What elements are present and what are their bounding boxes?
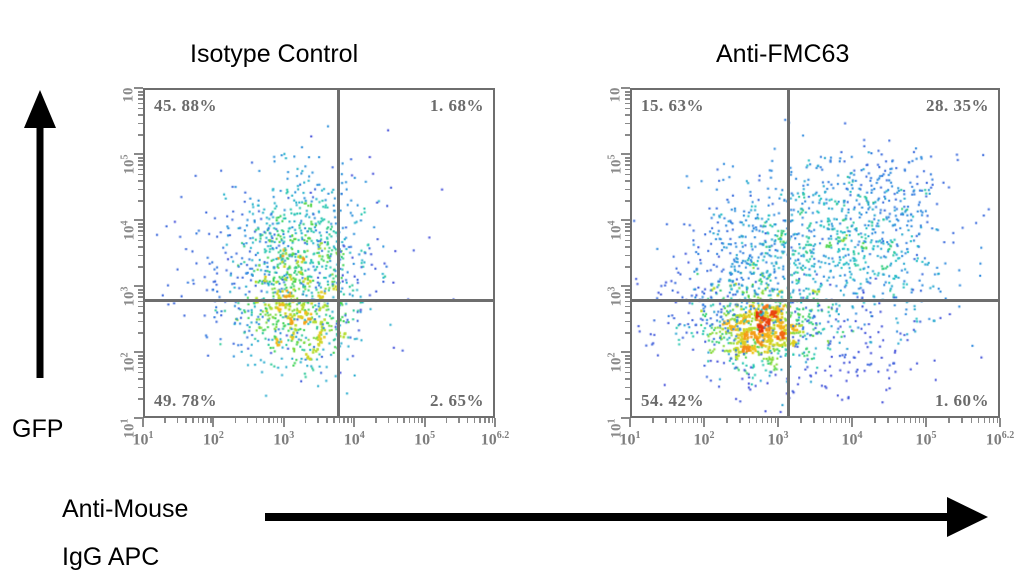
y-tick-minor <box>625 306 630 308</box>
dot-plot-isotype-control: 45. 88% 1. 68% 49. 78% 2. 65% 1011021031… <box>105 78 515 446</box>
x-tick-minor <box>923 418 925 423</box>
plot-frame-isotype-control: 45. 88% 1. 68% 49. 78% 2. 65% <box>143 88 495 418</box>
quadrant-pct-lower-left: 54. 42% <box>641 391 704 411</box>
y-tick-minor <box>625 200 630 202</box>
y-axis-title: GFP <box>12 415 63 444</box>
quadrant-pct-lower-left: 49. 78% <box>154 391 217 411</box>
y-tick-label: 104 <box>607 221 626 281</box>
x-tick-minor <box>726 418 728 423</box>
x-tick-mark <box>851 418 853 427</box>
y-tick-minor <box>138 94 143 96</box>
x-tick-minor <box>207 418 209 423</box>
x-tick-mark <box>353 418 355 427</box>
x-tick-minor <box>418 418 420 423</box>
x-tick-minor <box>474 418 476 423</box>
y-tick-minor <box>625 103 630 105</box>
x-tick-minor <box>247 418 249 423</box>
x-tick-minor <box>263 418 265 423</box>
quadrant-pct-lower-right: 1. 60% <box>935 391 989 411</box>
y-tick-label: 103 <box>607 287 626 347</box>
y-tick-minor <box>138 321 143 323</box>
x-tick-minor <box>277 418 279 423</box>
quadrant-pct-upper-right: 1. 68% <box>430 96 484 116</box>
x-tick-minor <box>682 418 684 423</box>
y-tick-minor <box>138 306 143 308</box>
y-tick-minor <box>625 296 630 298</box>
y-tick-minor <box>138 226 143 228</box>
scatter-dots-anti-fmc63 <box>632 90 998 416</box>
x-tick-minor <box>375 418 377 423</box>
x-tick-minor <box>688 418 690 423</box>
y-tick-minor <box>138 372 143 374</box>
y-tick-minor <box>625 164 630 166</box>
y-tick-label: 101 <box>607 419 626 479</box>
y-tick-minor <box>625 134 630 136</box>
y-tick-minor <box>625 108 630 110</box>
apc-arrow-icon <box>265 495 990 539</box>
gate-line-horizontal <box>632 299 998 302</box>
y-tick-label: 102 <box>607 353 626 413</box>
x-tick-minor <box>198 418 200 423</box>
x-tick-minor <box>836 418 838 423</box>
x-tick-mark <box>629 418 631 427</box>
y-tick-minor <box>625 289 630 291</box>
x-tick-minor <box>756 418 758 423</box>
x-tick-minor <box>256 418 258 423</box>
y-tick-label: 105 <box>607 155 626 215</box>
x-tick-minor <box>874 418 876 423</box>
y-tick-minor <box>138 378 143 380</box>
y-tick-minor <box>625 312 630 314</box>
y-tick-minor <box>138 301 143 303</box>
y-tick-minor <box>138 398 143 400</box>
x-tick-mark <box>424 418 426 427</box>
y-tick-minor <box>138 98 143 100</box>
x-tick-minor <box>268 418 270 423</box>
x-tick-minor <box>202 418 204 423</box>
y-tick-label: 104 <box>120 221 139 281</box>
y-tick-minor <box>138 362 143 364</box>
x-tick-minor <box>762 418 764 423</box>
x-axis-title-line1: Anti-Mouse <box>62 495 188 524</box>
x-tick-label: 103 <box>768 430 789 449</box>
x-tick-label: 105 <box>916 430 937 449</box>
y-tick-label: 102 <box>120 353 139 413</box>
y-tick-minor <box>138 312 143 314</box>
x-tick-label: 103 <box>273 430 294 449</box>
y-tick-minor <box>138 123 143 125</box>
y-tick-minor <box>138 134 143 136</box>
x-tick-minor <box>749 418 751 423</box>
x-tick-minor <box>984 418 986 423</box>
y-tick-minor <box>625 398 630 400</box>
x-tick-mark <box>494 418 496 427</box>
scatter-dots-isotype-control <box>145 90 493 416</box>
x-tick-minor <box>479 418 481 423</box>
x-tick-minor <box>326 418 328 423</box>
x-tick-minor <box>971 418 973 423</box>
x-tick-minor <box>488 418 490 423</box>
y-tick-minor <box>138 358 143 360</box>
y-tick-minor <box>625 301 630 303</box>
y-tick-minor <box>625 98 630 100</box>
y-tick-minor <box>138 235 143 237</box>
x-tick-mark <box>703 418 705 427</box>
y-tick-minor <box>138 230 143 232</box>
panel-title-anti-fmc63: Anti-FMC63 <box>716 40 849 69</box>
x-tick-minor <box>845 418 847 423</box>
x-tick-minor <box>997 418 999 423</box>
x-tick-label: 104 <box>842 430 863 449</box>
plot-frame-anti-fmc63: 15. 63% 28. 35% 54. 42% 1. 60% <box>630 88 1000 418</box>
x-tick-minor <box>841 418 843 423</box>
x-tick-minor <box>904 418 906 423</box>
y-tick-minor <box>625 169 630 171</box>
x-tick-minor <box>446 418 448 423</box>
panel-title-isotype-control: Isotype Control <box>190 40 358 69</box>
x-tick-label: 102 <box>203 430 224 449</box>
y-tick-minor <box>625 223 630 225</box>
y-tick-minor <box>625 292 630 294</box>
x-tick-label: 102 <box>694 430 715 449</box>
x-tick-minor <box>989 418 991 423</box>
y-tick-minor <box>625 246 630 248</box>
y-tick-minor <box>138 103 143 105</box>
y-tick-minor <box>625 157 630 159</box>
x-tick-minor <box>767 418 769 423</box>
y-tick-minor <box>625 266 630 268</box>
x-tick-minor <box>961 418 963 423</box>
y-tick-minor <box>138 169 143 171</box>
x-tick-minor <box>830 418 832 423</box>
x-tick-minor <box>192 418 194 423</box>
y-tick-label: 10 <box>608 88 625 148</box>
y-tick-minor <box>138 189 143 191</box>
x-tick-mark <box>925 418 927 427</box>
y-tick-minor <box>625 189 630 191</box>
y-tick-minor <box>625 240 630 242</box>
y-tick-minor <box>138 246 143 248</box>
y-tick-minor <box>138 174 143 176</box>
x-tick-minor <box>347 418 349 423</box>
y-tick-minor <box>138 91 143 93</box>
y-tick-minor <box>138 332 143 334</box>
x-tick-minor <box>652 418 654 423</box>
x-tick-minor <box>409 418 411 423</box>
x-tick-minor <box>235 418 237 423</box>
quadrant-pct-upper-left: 15. 63% <box>641 96 704 116</box>
gate-line-vertical <box>787 90 790 416</box>
x-tick-minor <box>697 418 699 423</box>
y-tick-minor <box>138 266 143 268</box>
y-tick-minor <box>138 292 143 294</box>
y-tick-minor <box>625 91 630 93</box>
x-tick-minor <box>388 418 390 423</box>
x-axis-title-line2: IgG APC <box>62 543 159 572</box>
x-tick-minor <box>897 418 899 423</box>
y-tick-minor <box>625 332 630 334</box>
x-tick-minor <box>823 418 825 423</box>
y-tick-minor <box>625 180 630 182</box>
x-tick-minor <box>919 418 921 423</box>
quadrant-pct-lower-right: 2. 65% <box>430 391 484 411</box>
x-tick-minor <box>333 418 335 423</box>
x-tick-minor <box>915 418 917 423</box>
x-tick-minor <box>397 418 399 423</box>
x-tick-minor <box>849 418 851 423</box>
y-tick-minor <box>625 321 630 323</box>
dot-plot-anti-fmc63: 15. 63% 28. 35% 54. 42% 1. 60% 101102103… <box>585 78 1015 446</box>
x-tick-mark <box>212 418 214 427</box>
y-tick-minor <box>138 387 143 389</box>
x-tick-mark <box>777 418 779 427</box>
x-tick-minor <box>675 418 677 423</box>
gate-line-horizontal <box>145 299 493 302</box>
y-tick-label: 10 <box>121 88 138 148</box>
x-tick-minor <box>414 418 416 423</box>
y-tick-minor <box>625 226 630 228</box>
y-tick-minor <box>625 230 630 232</box>
x-tick-minor <box>339 418 341 423</box>
y-tick-minor <box>625 235 630 237</box>
y-tick-minor <box>138 355 143 357</box>
y-tick-minor <box>138 114 143 116</box>
y-tick-minor <box>138 180 143 182</box>
x-tick-label: 106.2 <box>481 430 510 449</box>
figure-root: GFP Anti-Mouse IgG APC Isotype Control A… <box>0 0 1021 585</box>
x-tick-minor <box>771 418 773 423</box>
x-tick-mark <box>999 418 1001 427</box>
y-tick-minor <box>138 255 143 257</box>
x-tick-minor <box>484 418 486 423</box>
y-tick-minor <box>625 160 630 162</box>
y-tick-minor <box>625 372 630 374</box>
x-tick-minor <box>887 418 889 423</box>
x-tick-minor <box>910 418 912 423</box>
y-tick-minor <box>625 123 630 125</box>
x-tick-minor <box>403 418 405 423</box>
gfp-arrow-icon <box>22 88 58 378</box>
x-tick-minor <box>185 418 187 423</box>
y-tick-minor <box>625 367 630 369</box>
x-tick-label: 105 <box>414 430 435 449</box>
x-tick-minor <box>164 418 166 423</box>
x-tick-mark <box>142 418 144 427</box>
y-tick-minor <box>138 289 143 291</box>
x-tick-minor <box>665 418 667 423</box>
x-tick-mark <box>283 418 285 427</box>
x-tick-minor <box>305 418 307 423</box>
x-tick-minor <box>317 418 319 423</box>
y-tick-label: 101 <box>120 419 139 479</box>
x-tick-label: 106.2 <box>986 430 1015 449</box>
x-tick-minor <box>458 418 460 423</box>
x-tick-minor <box>343 418 345 423</box>
x-tick-minor <box>993 418 995 423</box>
x-tick-minor <box>177 418 179 423</box>
y-tick-minor <box>625 355 630 357</box>
quadrant-pct-upper-right: 28. 35% <box>926 96 989 116</box>
y-tick-minor <box>138 296 143 298</box>
y-tick-minor <box>625 362 630 364</box>
x-tick-minor <box>813 418 815 423</box>
quadrant-pct-upper-left: 45. 88% <box>154 96 217 116</box>
y-tick-minor <box>625 174 630 176</box>
y-tick-minor <box>138 240 143 242</box>
y-tick-minor <box>138 157 143 159</box>
y-tick-minor <box>138 367 143 369</box>
x-tick-label: 104 <box>344 430 365 449</box>
x-tick-minor <box>693 418 695 423</box>
y-tick-minor <box>138 108 143 110</box>
x-tick-minor <box>948 418 950 423</box>
y-tick-minor <box>625 114 630 116</box>
gate-line-vertical <box>337 90 340 416</box>
y-tick-minor <box>138 164 143 166</box>
y-tick-minor <box>138 200 143 202</box>
x-tick-minor <box>800 418 802 423</box>
y-tick-label: 103 <box>120 287 139 347</box>
y-tick-minor <box>625 358 630 360</box>
y-tick-minor <box>625 255 630 257</box>
x-tick-minor <box>701 418 703 423</box>
y-tick-minor <box>138 160 143 162</box>
x-tick-minor <box>467 418 469 423</box>
y-tick-label: 105 <box>120 155 139 215</box>
x-tick-minor <box>273 418 275 423</box>
x-tick-minor <box>978 418 980 423</box>
x-tick-minor <box>739 418 741 423</box>
x-tick-minor <box>775 418 777 423</box>
y-tick-minor <box>625 94 630 96</box>
y-tick-minor <box>625 378 630 380</box>
y-tick-minor <box>625 387 630 389</box>
y-tick-minor <box>138 223 143 225</box>
